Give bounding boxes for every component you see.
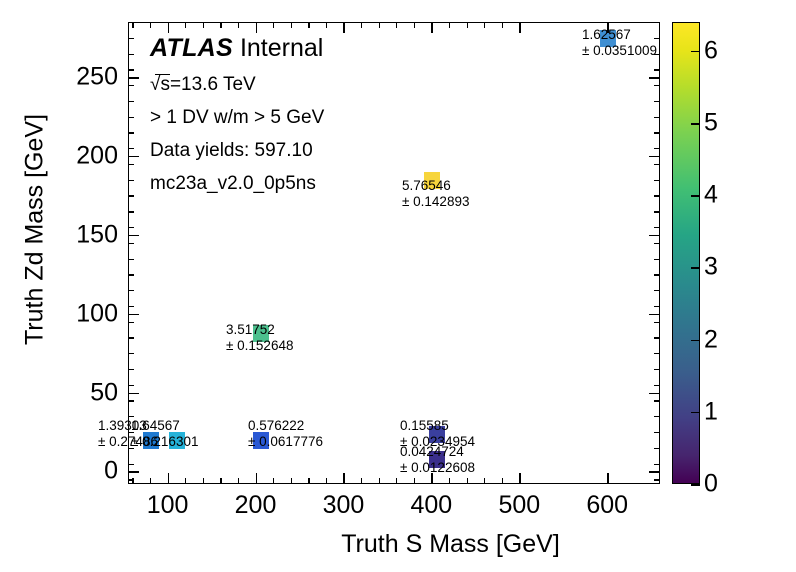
x-major-tick xyxy=(256,473,257,484)
y-axis-title: Truth Zd Mass [GeV] xyxy=(21,10,50,450)
y-minor-tick-right xyxy=(654,211,660,212)
x-minor-tick xyxy=(308,478,309,484)
bin-value-text: 0.576222 xyxy=(248,418,323,434)
y-minor-tick-right xyxy=(654,322,660,323)
y-tick-label: 200 xyxy=(66,142,118,171)
y-minor-tick xyxy=(128,38,134,39)
colorbar-tick xyxy=(691,340,700,342)
x-major-tick-top xyxy=(519,22,520,33)
y-major-tick-right xyxy=(649,471,660,472)
atlas-2d-histogram-plot: 100200300400500600050100150200250 1.6256… xyxy=(0,0,796,572)
y-major-tick-right xyxy=(649,77,660,78)
y-minor-tick-right xyxy=(654,432,660,433)
x-major-tick xyxy=(168,473,169,484)
y-tick-label: 150 xyxy=(66,220,118,249)
bin-value-annotation: 0.0424724± 0.0122608 xyxy=(400,444,475,476)
y-major-tick xyxy=(128,314,139,315)
x-minor-tick-top xyxy=(203,22,204,28)
x-minor-tick-top xyxy=(273,22,274,28)
y-minor-tick-right xyxy=(654,132,660,133)
y-minor-tick xyxy=(128,385,134,386)
y-minor-tick-right xyxy=(654,22,660,23)
colorbar-tick xyxy=(691,51,700,53)
x-minor-tick xyxy=(220,478,221,484)
bin-error-text: ± 0.0122608 xyxy=(400,460,475,476)
y-minor-tick xyxy=(128,148,134,149)
x-minor-tick xyxy=(414,478,415,484)
legend-block: ATLAS Internal √s=13.6 TeV > 1 DV w/m > … xyxy=(150,36,324,207)
energy-prefix-text: s xyxy=(160,74,170,95)
y-minor-tick-right xyxy=(654,164,660,165)
y-minor-tick-right xyxy=(654,353,660,354)
bin-value-text: 0.0424724 xyxy=(400,444,475,460)
y-minor-tick-right xyxy=(654,101,660,102)
x-major-tick xyxy=(343,473,344,484)
y-minor-tick xyxy=(128,54,134,55)
bin-error-text: ± 0.0351009 xyxy=(582,43,657,59)
x-major-tick-top xyxy=(431,22,432,33)
y-major-tick-right xyxy=(649,393,660,394)
y-minor-tick xyxy=(128,211,134,212)
data-yields-label: Data yields: 597.10 xyxy=(150,141,324,160)
y-minor-tick xyxy=(128,164,134,165)
y-major-tick xyxy=(128,235,139,236)
atlas-label: ATLAS Internal xyxy=(150,36,324,61)
x-tick-label: 500 xyxy=(498,491,540,520)
y-major-tick xyxy=(128,77,139,78)
y-minor-tick-right xyxy=(654,464,660,465)
bin-value-annotation: 1.62567± 0.0351009 xyxy=(582,27,657,59)
x-tick-label: 200 xyxy=(235,491,277,520)
y-minor-tick-right xyxy=(654,243,660,244)
x-tick-label: 300 xyxy=(323,491,365,520)
energy-label: √s=13.6 TeV xyxy=(150,75,324,94)
x-major-tick-top xyxy=(168,22,169,33)
x-minor-tick-top xyxy=(467,22,468,28)
y-minor-tick xyxy=(128,22,134,23)
y-minor-tick-right xyxy=(654,448,660,449)
y-major-tick-right xyxy=(649,156,660,157)
x-minor-tick xyxy=(379,478,380,484)
y-tick-label: 50 xyxy=(66,378,118,407)
energy-value-text: =13.6 TeV xyxy=(170,74,256,95)
x-minor-tick xyxy=(150,478,151,484)
x-minor-tick-top xyxy=(414,22,415,28)
y-minor-tick-right xyxy=(654,117,660,118)
y-major-tick-right xyxy=(649,314,660,315)
y-minor-tick xyxy=(128,117,134,118)
x-minor-tick-top xyxy=(220,22,221,28)
y-minor-tick-right xyxy=(654,148,660,149)
x-minor-tick xyxy=(396,478,397,484)
x-minor-tick-top xyxy=(326,22,327,28)
x-minor-tick xyxy=(291,478,292,484)
y-minor-tick xyxy=(128,400,134,401)
atlas-status-text: Internal xyxy=(240,34,323,62)
colorbar-tick xyxy=(691,267,700,269)
x-tick-label: 400 xyxy=(411,491,453,520)
x-major-tick xyxy=(607,473,608,484)
x-minor-tick-top xyxy=(238,22,239,28)
colorbar-tick xyxy=(691,412,700,414)
x-minor-tick-top xyxy=(308,22,309,28)
x-minor-tick-top xyxy=(291,22,292,28)
y-minor-tick xyxy=(128,322,134,323)
x-major-tick xyxy=(519,473,520,484)
x-major-tick-top xyxy=(343,22,344,33)
y-minor-tick-right xyxy=(654,259,660,260)
y-minor-tick xyxy=(128,274,134,275)
y-minor-tick xyxy=(128,479,134,480)
x-minor-tick xyxy=(203,478,204,484)
x-minor-tick xyxy=(449,478,450,484)
y-minor-tick-right xyxy=(654,85,660,86)
selection-label: > 1 DV w/m > 5 GeV xyxy=(150,108,324,127)
y-major-tick-right xyxy=(649,235,660,236)
y-minor-tick-right xyxy=(654,385,660,386)
y-minor-tick xyxy=(128,101,134,102)
x-minor-tick-top xyxy=(449,22,450,28)
bin-value-text: 1.62567 xyxy=(582,27,657,43)
y-minor-tick-right xyxy=(654,180,660,181)
bin-error-text: ± 0.0617776 xyxy=(248,434,323,450)
atlas-experiment-text: ATLAS xyxy=(150,34,233,62)
x-minor-tick-top xyxy=(396,22,397,28)
x-tick-label: 100 xyxy=(147,491,189,520)
y-minor-tick-right xyxy=(654,290,660,291)
y-minor-tick xyxy=(128,180,134,181)
y-minor-tick xyxy=(128,259,134,260)
y-minor-tick xyxy=(128,243,134,244)
y-minor-tick-right xyxy=(654,69,660,70)
x-minor-tick xyxy=(273,478,274,484)
y-minor-tick xyxy=(128,337,134,338)
x-minor-tick xyxy=(467,478,468,484)
x-minor-tick xyxy=(185,478,186,484)
y-minor-tick xyxy=(128,369,134,370)
y-minor-tick-right xyxy=(654,479,660,480)
colorbar-tick-label: 3 xyxy=(704,253,718,282)
y-minor-tick xyxy=(128,290,134,291)
y-minor-tick xyxy=(128,227,134,228)
x-minor-tick-top xyxy=(484,22,485,28)
colorbar-tick-label: 0 xyxy=(704,470,718,499)
bin-value-annotation: 1.64567± 0.216301 xyxy=(131,418,198,450)
bin-value-annotation: 3.51752± 0.152648 xyxy=(226,322,293,354)
bin-value-annotation: 0.576222± 0.0617776 xyxy=(248,418,323,450)
x-minor-tick-top xyxy=(185,22,186,28)
x-minor-tick-top xyxy=(361,22,362,28)
colorbar-tick-label: 2 xyxy=(704,325,718,354)
y-minor-tick-right xyxy=(654,195,660,196)
x-minor-tick-top xyxy=(379,22,380,28)
x-minor-tick-top xyxy=(150,22,151,28)
y-minor-tick-right xyxy=(654,274,660,275)
bin-error-text: ± 0.152648 xyxy=(226,338,293,354)
y-tick-label: 250 xyxy=(66,63,118,92)
y-minor-tick-right xyxy=(654,369,660,370)
colorbar-tick xyxy=(691,123,700,125)
y-major-tick xyxy=(128,471,139,472)
y-minor-tick-right xyxy=(654,306,660,307)
colorbar-tick-label: 1 xyxy=(704,397,718,426)
x-minor-tick xyxy=(484,478,485,484)
y-minor-tick xyxy=(128,195,134,196)
y-minor-tick xyxy=(128,69,134,70)
x-tick-label: 600 xyxy=(586,491,628,520)
y-tick-label: 0 xyxy=(66,457,118,486)
y-minor-tick-right xyxy=(654,416,660,417)
x-minor-tick xyxy=(502,478,503,484)
sample-label: mc23a_v2.0_0p5ns xyxy=(150,174,324,193)
colorbar-tick xyxy=(691,484,700,486)
bin-error-text: ± 0.216301 xyxy=(131,434,198,450)
bin-value-text: 3.51752 xyxy=(226,322,293,338)
x-minor-tick xyxy=(361,478,362,484)
bin-value-annotation: 5.76546± 0.142893 xyxy=(402,178,469,210)
x-major-tick-top xyxy=(256,22,257,33)
y-major-tick xyxy=(128,156,139,157)
bin-value-text: 5.76546 xyxy=(402,178,469,194)
colorbar-tick-label: 5 xyxy=(704,109,718,138)
colorbar-tick-label: 4 xyxy=(704,181,718,210)
colorbar-ticks xyxy=(672,22,700,484)
colorbar-tick xyxy=(691,195,700,197)
bin-value-text: 1.64567 xyxy=(131,418,198,434)
x-axis-title: Truth S Mass [GeV] xyxy=(0,530,796,559)
y-minor-tick xyxy=(128,85,134,86)
x-minor-tick xyxy=(238,478,239,484)
y-minor-tick xyxy=(128,353,134,354)
bin-error-text: ± 0.142893 xyxy=(402,194,469,210)
y-minor-tick-right xyxy=(654,227,660,228)
y-minor-tick-right xyxy=(654,337,660,338)
sqrt-symbol: √s xyxy=(150,75,170,94)
colorbar-tick-label: 6 xyxy=(704,36,718,65)
y-tick-label: 100 xyxy=(66,299,118,328)
y-minor-tick xyxy=(128,132,134,133)
bin-value-text: 0.15585 xyxy=(400,418,475,434)
y-minor-tick-right xyxy=(654,400,660,401)
y-minor-tick xyxy=(128,464,134,465)
x-minor-tick-top xyxy=(502,22,503,28)
y-minor-tick xyxy=(128,306,134,307)
x-minor-tick xyxy=(326,478,327,484)
y-major-tick xyxy=(128,393,139,394)
